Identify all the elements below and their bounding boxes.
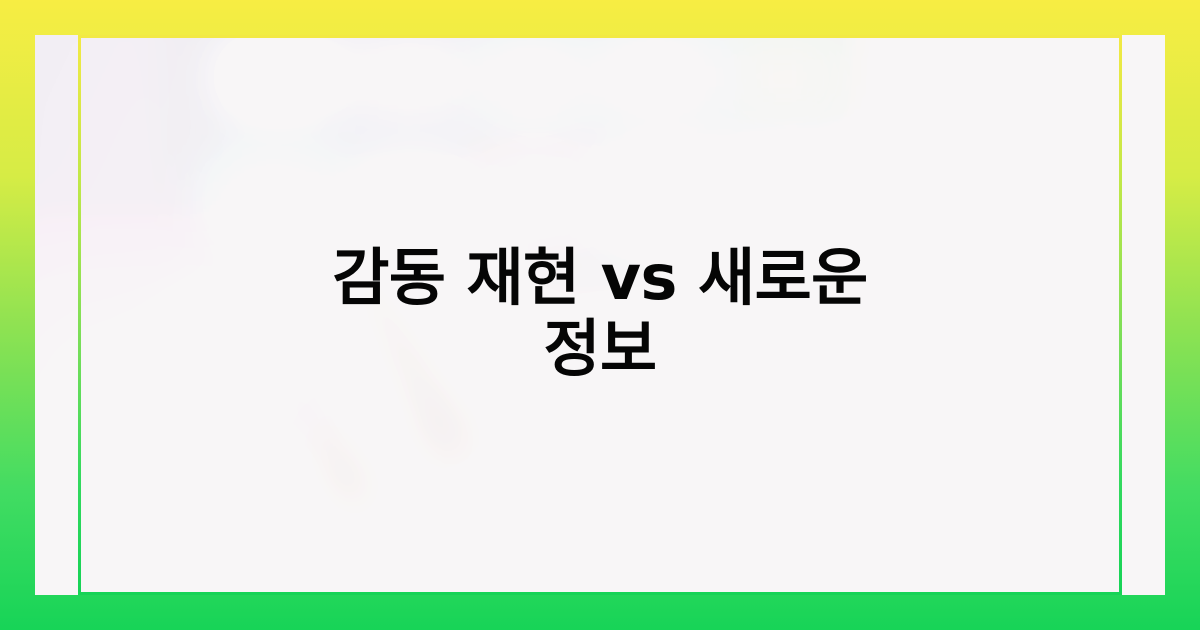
thumbnail-card: 감동 재현 vs 새로운 정보: [0, 0, 1200, 630]
title-line-1: 감동 재현 vs 새로운: [332, 241, 867, 314]
page-title: 감동 재현 vs 새로운 정보: [150, 243, 1050, 384]
title-line-2: 정보: [543, 312, 656, 385]
title-block: 감동 재현 vs 새로운 정보: [0, 243, 1200, 384]
